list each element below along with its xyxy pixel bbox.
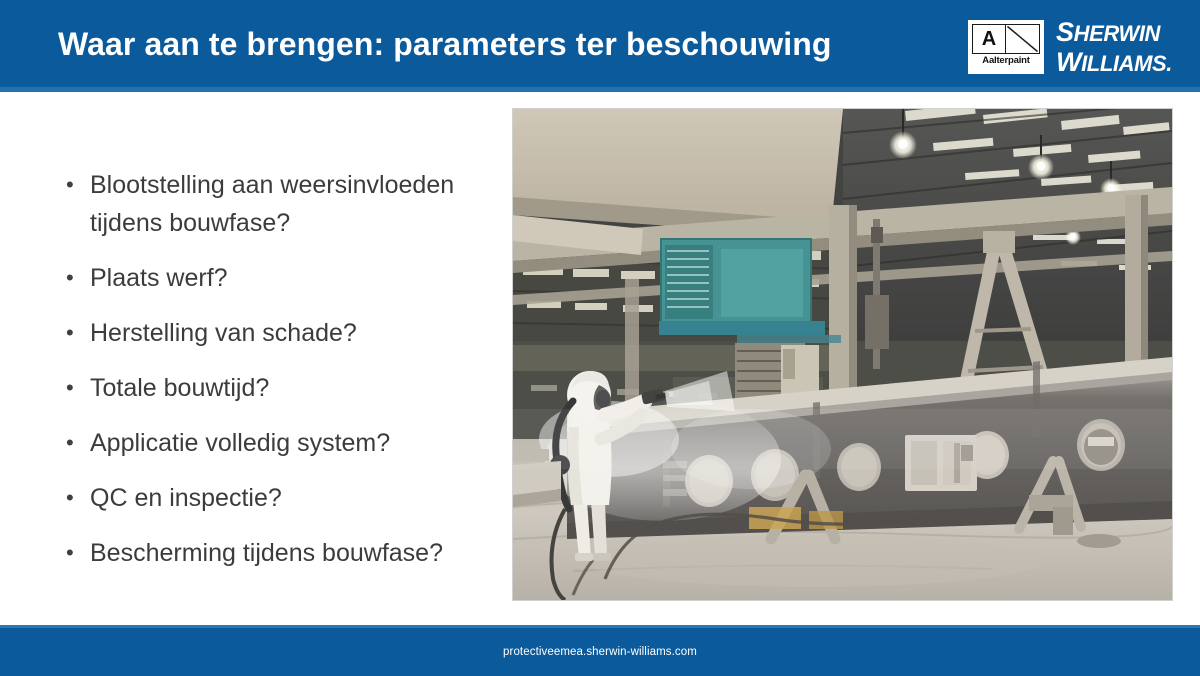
bullet-marker-icon: • <box>56 369 90 407</box>
header-underline <box>0 87 1200 92</box>
list-item-label: QC en inspectie? <box>90 479 486 517</box>
list-item-label: Plaats werf? <box>90 259 486 297</box>
sherwin-williams-wordmark: SHERWIN WILLIAMS. <box>1056 18 1172 78</box>
footer-topline <box>0 625 1200 628</box>
sherwin-williams-line-2: WILLIAMS. <box>1056 48 1172 78</box>
sw-line1-lead: S <box>1056 17 1074 47</box>
sw-line2-lead: W <box>1056 47 1081 77</box>
brand-logo-block: A Aalterpaint SHERWIN WILLIAMS. <box>968 18 1173 76</box>
aalterpaint-wordmark: Aalterpaint <box>972 55 1040 67</box>
workshop-spray-painting-photo <box>513 109 1172 600</box>
list-item-label: Herstelling van schade? <box>90 314 486 352</box>
list-item: • Plaats werf? <box>56 259 486 297</box>
bullet-marker-icon: • <box>56 259 90 297</box>
list-item: • Blootstelling aan weersinvloeden tijde… <box>56 166 486 242</box>
list-item: • Applicatie volledig system? <box>56 424 486 462</box>
bullet-marker-icon: • <box>56 534 90 572</box>
list-item: • Herstelling van schade? <box>56 314 486 352</box>
sherwin-williams-line-1: SHERWIN <box>1056 18 1172 48</box>
list-item: • Bescherming tijdens bouwfase? <box>56 534 486 572</box>
bullet-marker-icon: • <box>56 166 90 204</box>
list-item: • QC en inspectie? <box>56 479 486 517</box>
slide-header-band: Waar aan te brengen: parameters ter besc… <box>0 0 1200 92</box>
diagonal-line-icon <box>1006 25 1039 53</box>
list-item-label: Bescherming tijdens bouwfase? <box>90 534 486 572</box>
slide-canvas: Waar aan te brengen: parameters ter besc… <box>0 0 1200 676</box>
list-item-label: Blootstelling aan weersinvloeden tijdens… <box>90 166 486 242</box>
bullet-list: • Blootstelling aan weersinvloeden tijde… <box>56 166 486 589</box>
footer-website-url[interactable]: protectiveemea.sherwin-williams.com <box>0 646 1200 658</box>
photo-illustration <box>513 109 1172 600</box>
sw-line2-rest: ILLIAMS. <box>1081 51 1172 76</box>
aalterpaint-logo-mark: A <box>972 24 1040 54</box>
list-item-label: Applicatie volledig system? <box>90 424 486 462</box>
list-item: • Totale bouwtijd? <box>56 369 486 407</box>
bullet-marker-icon: • <box>56 314 90 352</box>
bullet-marker-icon: • <box>56 479 90 517</box>
aalterpaint-letter-a: A <box>973 25 1006 53</box>
aalterpaint-logo: A Aalterpaint <box>968 20 1044 74</box>
page-title: Waar aan te brengen: parameters ter besc… <box>58 22 958 66</box>
list-item-label: Totale bouwtijd? <box>90 369 486 407</box>
bullet-marker-icon: • <box>56 424 90 462</box>
sw-line1-rest: HERWIN <box>1074 21 1160 46</box>
